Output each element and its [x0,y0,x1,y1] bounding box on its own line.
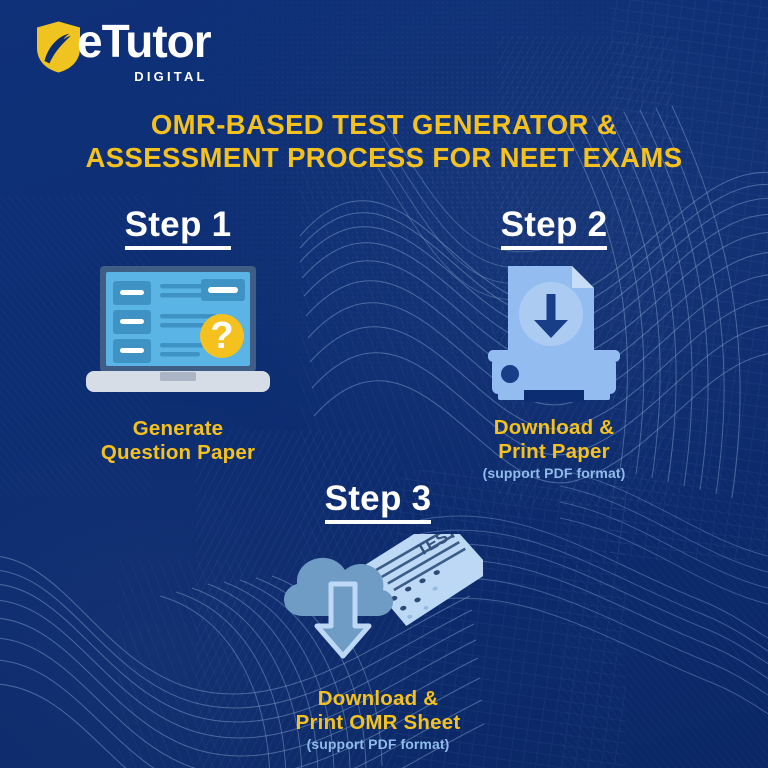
step-2-illustration [414,262,694,402]
title-line-1: OMR-BASED TEST GENERATOR & [151,109,617,140]
step-3-illustration: TEST [228,534,528,669]
step-2-caption-line-2: Print Paper [414,440,694,464]
step-2-label: Step 2 [501,206,608,250]
step-1-caption: Generate Question Paper [38,417,318,465]
step-3-caption: Download & Print OMR Sheet (support PDF … [228,687,528,754]
step-3-caption-line-1: Download & [228,687,528,711]
step-3-note: (support PDF format) [228,735,528,754]
step-3-label: Step 3 [325,480,432,524]
svg-text:?: ? [210,315,233,357]
step-1-label: Step 1 [125,206,232,250]
infographic-poster: eTutor DIGITAL OMR-BASED TEST GENERATOR … [0,0,768,768]
step-1-caption-line-2: Question Paper [38,441,318,465]
page-title: OMR-BASED TEST GENERATOR & ASSESSMENT PR… [0,108,768,174]
step-1-block: Step 1 [38,206,318,465]
step-2-caption: Download & Print Paper (support PDF form… [414,416,694,483]
step-1-caption-line-1: Generate [38,417,318,441]
title-line-2: ASSESSMENT PROCESS FOR NEET EXAMS [0,141,768,174]
step-2-block: Step 2 Download & Print Paper (suppo [414,206,694,483]
laptop-question-icon: ? [82,264,274,399]
printer-download-icon [484,262,624,402]
step-2-caption-line-1: Download & [414,416,694,440]
brand-name: eTutor [77,18,211,64]
brand-tagline: DIGITAL [77,69,211,84]
step-1-illustration: ? [38,264,318,399]
shield-swoosh-icon [36,21,81,73]
step-3-caption-line-2: Print OMR Sheet [228,711,528,735]
cloud-download-omr-sheet-icon: TEST [273,534,483,669]
brand-logo[interactable]: eTutor DIGITAL [36,18,211,84]
step-3-block: Step 3 TEST [228,480,528,754]
